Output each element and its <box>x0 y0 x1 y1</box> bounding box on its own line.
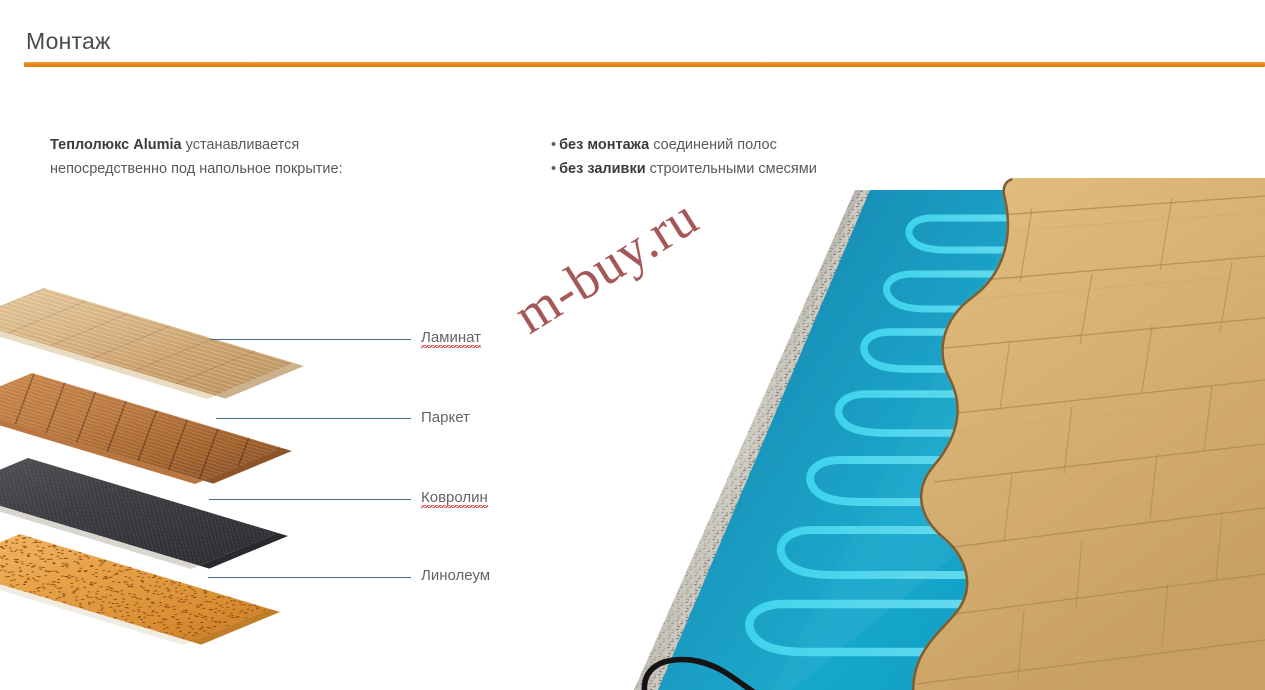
bullet-rest-0: соединений полос <box>649 137 777 153</box>
callout-text-laminate: Ламинат <box>421 329 481 348</box>
page-title: Монтаж <box>26 28 111 55</box>
callout-label-laminate: Ламинат <box>421 329 481 346</box>
leader-line-linoleum <box>208 577 411 578</box>
intro-text-rest: устанавливается <box>182 137 300 153</box>
callout-label-carpet: Ковролин <box>421 489 488 506</box>
callout-text-linoleum: Линолеум <box>421 567 490 584</box>
bullet-dot-icon: • <box>551 137 556 153</box>
callout-text-carpet: Ковролин <box>421 489 488 508</box>
layer-linoleum <box>20 534 286 658</box>
bullet-bold-0: без монтажа <box>559 137 649 153</box>
heating-mat-photo <box>612 178 1265 690</box>
callout-label-parquet: Паркет <box>421 409 470 426</box>
intro-bold-lead: Теплолюкс Alumia <box>50 137 182 153</box>
callout-label-linoleum: Линолеум <box>421 567 490 584</box>
leader-line-parquet <box>216 418 411 419</box>
bullet-dot-icon: • <box>551 161 556 177</box>
callout-text-parquet: Паркет <box>421 409 470 426</box>
benefits-list: •без монтажа соединений полос •без залив… <box>551 133 971 181</box>
title-divider-rule <box>24 62 1265 67</box>
list-item: •без монтажа соединений полос <box>551 133 971 157</box>
bullet-bold-1: без заливки <box>559 161 646 177</box>
leader-line-laminate <box>211 339 411 340</box>
leader-line-carpet <box>209 499 411 500</box>
intro-paragraph: Теплолюкс Alumia устанавливается непосре… <box>50 133 410 181</box>
slide-root: Монтаж Теплолюкс Alumia устанавливается … <box>0 0 1265 690</box>
intro-line-2: непосредственно под напольное покрытие: <box>50 161 343 177</box>
bullet-rest-1: строительными смесями <box>646 161 817 177</box>
